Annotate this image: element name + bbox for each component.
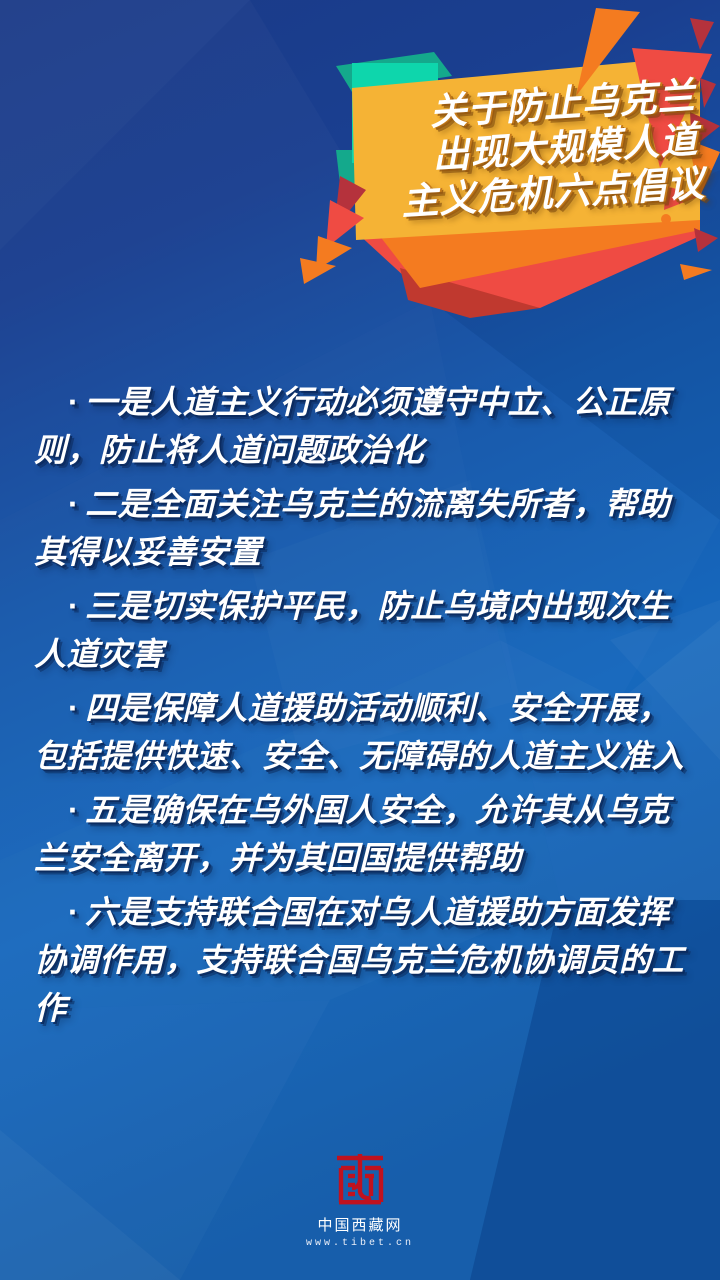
poster-title: 关于防止乌克兰 出现大规模人道 主义危机六点倡议 [394, 74, 702, 225]
list-item-body-5: 五是确保在乌外国人安全，允许其从乌克兰安全离开，并为其回国提供帮助 [34, 792, 670, 876]
list-item-body-1: 一是人道主义行动必须遵守中立、公正原则，防止将人道问题政治化 [34, 384, 670, 468]
dot-orange [661, 214, 671, 224]
list-item-body-2: 二是全面关注乌克兰的流离失所者，帮助其得以妥善安置 [34, 486, 670, 570]
list-item-body-4: 四是保障人道援助活动顺利、安全开展，包括提供快速、安全、无障碍的人道主义准入 [34, 690, 684, 774]
shard-orange-5 [680, 264, 712, 280]
bullet-icon: · [68, 384, 85, 420]
bullet-icon: · [68, 894, 85, 930]
bullet-icon: · [68, 690, 85, 726]
shard-crimson-1 [690, 18, 714, 50]
shard-crimson-2 [700, 78, 716, 108]
list-item-text-5: ·五是确保在乌外国人安全，允许其从乌克兰安全离开，并为其回国提供帮助 [34, 786, 694, 882]
poster-canvas: 关于防止乌克兰 出现大规模人道 主义危机六点倡议 ·一是人道主义行动必须遵守中立… [0, 0, 720, 1280]
list-item-text-4: ·四是保障人道援助活动顺利、安全开展，包括提供快速、安全、无障碍的人道主义准入 [34, 684, 694, 780]
list-item-body-6: 六是支持联合国在对乌人道援助方面发挥协调作用，支持联合国乌克兰危机协调员的工作 [34, 894, 684, 1026]
list-item: ·五是确保在乌外国人安全，允许其从乌克兰安全离开，并为其回国提供帮助 [34, 786, 694, 882]
list-item-body-3: 三是切实保护平民，防止乌境内出现次生人道灾害 [34, 588, 670, 672]
shard-crimson-5 [694, 228, 718, 252]
list-item-text-6: ·六是支持联合国在对乌人道援助方面发挥协调作用，支持联合国乌克兰危机协调员的工作 [34, 888, 694, 1032]
list-item-text-1: ·一是人道主义行动必须遵守中立、公正原则，防止将人道问题政治化 [34, 378, 694, 474]
bullet-icon: · [68, 792, 85, 828]
publisher-footer: 中国西藏网 www.tibet.cn [0, 1152, 720, 1252]
publisher-name: 中国西藏网 [0, 1216, 720, 1236]
bullet-icon: · [68, 486, 85, 522]
list-item: ·三是切实保护平民，防止乌境内出现次生人道灾害 [34, 582, 694, 678]
list-item: ·六是支持联合国在对乌人道援助方面发挥协调作用，支持联合国乌克兰危机协调员的工作 [34, 888, 694, 1032]
publisher-url: www.tibet.cn [0, 1236, 720, 1252]
list-item: ·二是全面关注乌克兰的流离失所者，帮助其得以妥善安置 [34, 480, 694, 576]
proposal-list: ·一是人道主义行动必须遵守中立、公正原则，防止将人道问题政治化 ·二是全面关注乌… [0, 378, 720, 1038]
tibet-seal-logo-icon [329, 1152, 391, 1210]
list-item-text-2: ·二是全面关注乌克兰的流离失所者，帮助其得以妥善安置 [34, 480, 694, 576]
list-item-text-3: ·三是切实保护平民，防止乌境内出现次生人道灾害 [34, 582, 694, 678]
list-item: ·四是保障人道援助活动顺利、安全开展，包括提供快速、安全、无障碍的人道主义准入 [34, 684, 694, 780]
bullet-icon: · [68, 588, 85, 624]
list-item: ·一是人道主义行动必须遵守中立、公正原则，防止将人道问题政治化 [34, 378, 694, 474]
